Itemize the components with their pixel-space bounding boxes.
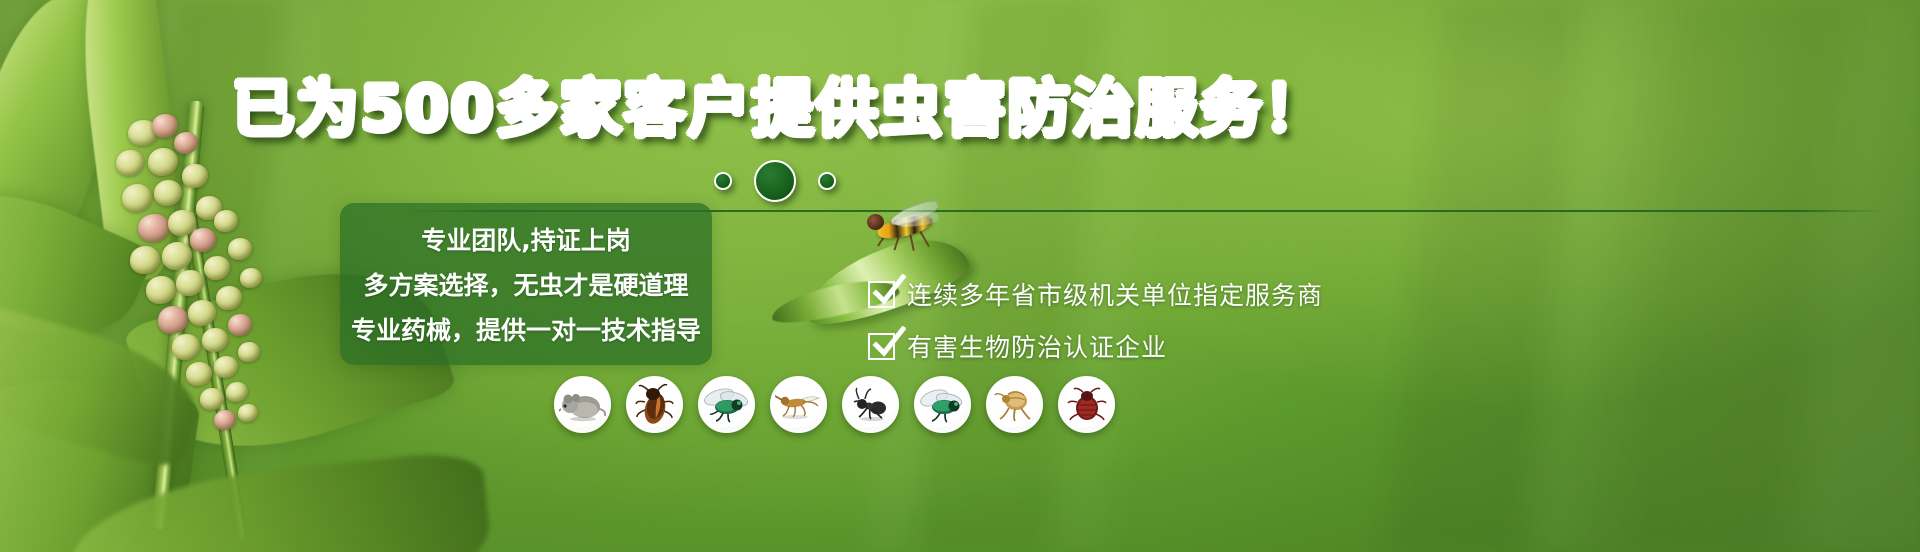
pest-icon-strip — [554, 376, 1115, 433]
credential-text: 连续多年省市级机关单位指定服务商 — [907, 276, 1323, 312]
flower-bud — [158, 306, 188, 334]
flower-bud — [214, 210, 238, 232]
flower-bud — [214, 356, 238, 378]
flower-bud — [238, 404, 258, 422]
flower-bud — [238, 342, 260, 362]
flea-icon[interactable] — [986, 376, 1043, 433]
flower-bud — [204, 256, 230, 280]
flower-bud — [190, 228, 216, 252]
flower-bud — [214, 410, 236, 430]
fly-head — [867, 214, 884, 230]
flower-bud — [228, 238, 252, 260]
flower-bud — [188, 300, 216, 326]
checkbox-checked-icon — [868, 333, 895, 360]
flower-bud — [200, 388, 224, 410]
credential-row: 连续多年省市级机关单位指定服务商 — [868, 268, 1323, 320]
feature-line-1: 专业团队,持证上岗 — [421, 221, 631, 257]
flower-bud — [226, 382, 248, 402]
credential-text: 有害生物防治认证企业 — [907, 328, 1167, 364]
promo-banner: 已为500多家客户提供虫害防治服务！ 已为500多家客户提供虫害防治服务！ 专业… — [0, 0, 1920, 552]
fly-icon[interactable] — [698, 376, 755, 433]
checkbox-checked-icon — [868, 281, 895, 308]
hoverfly-photo — [855, 200, 955, 252]
blowfly-icon[interactable] — [914, 376, 971, 433]
credential-row: 有害生物防治认证企业 — [868, 320, 1323, 372]
fly-leg — [919, 231, 930, 248]
rat-icon[interactable] — [554, 376, 611, 433]
feature-line-2: 多方案选择，无虫才是硬道理 — [363, 266, 688, 302]
flower-bud — [122, 184, 152, 212]
flower-bud — [138, 214, 170, 242]
flower-bud — [240, 268, 262, 288]
flower-bud — [172, 334, 200, 360]
decorative-dots — [714, 158, 864, 204]
decorative-dot-large — [754, 160, 796, 202]
flower-bud — [202, 328, 228, 352]
flower-bud — [154, 180, 182, 206]
flower-bud — [116, 150, 144, 176]
flower-bud — [162, 242, 192, 270]
flower-bud — [176, 270, 204, 296]
feature-panel-text: 专业团队,持证上岗 多方案选择，无虫才是硬道理 专业药械，提供一对一技术指导 — [340, 203, 712, 365]
fly-leg — [909, 233, 915, 251]
ant-icon[interactable] — [842, 376, 899, 433]
mosquito-icon[interactable] — [770, 376, 827, 433]
feature-line-3: 专业药械，提供一对一技术指导 — [351, 311, 701, 347]
flower-bud — [130, 246, 160, 274]
flower-bud — [148, 148, 178, 176]
credential-list: 连续多年省市级机关单位指定服务商 有害生物防治认证企业 — [868, 268, 1323, 372]
flower-bud — [216, 286, 242, 310]
cockroach-icon[interactable] — [626, 376, 683, 433]
flower-bud — [228, 314, 252, 336]
decorative-dot-small — [818, 172, 836, 190]
page-title: 已为500多家客户提供虫害防治服务！ — [0, 78, 1560, 140]
flower-bud — [146, 276, 176, 304]
bedbug-icon[interactable] — [1058, 376, 1115, 433]
decorative-dot-small — [714, 172, 732, 190]
flower-bud — [182, 164, 208, 188]
flower-bud — [186, 362, 212, 386]
headline-text: 已为500多家客户提供虫害防治服务！ — [232, 72, 1327, 145]
